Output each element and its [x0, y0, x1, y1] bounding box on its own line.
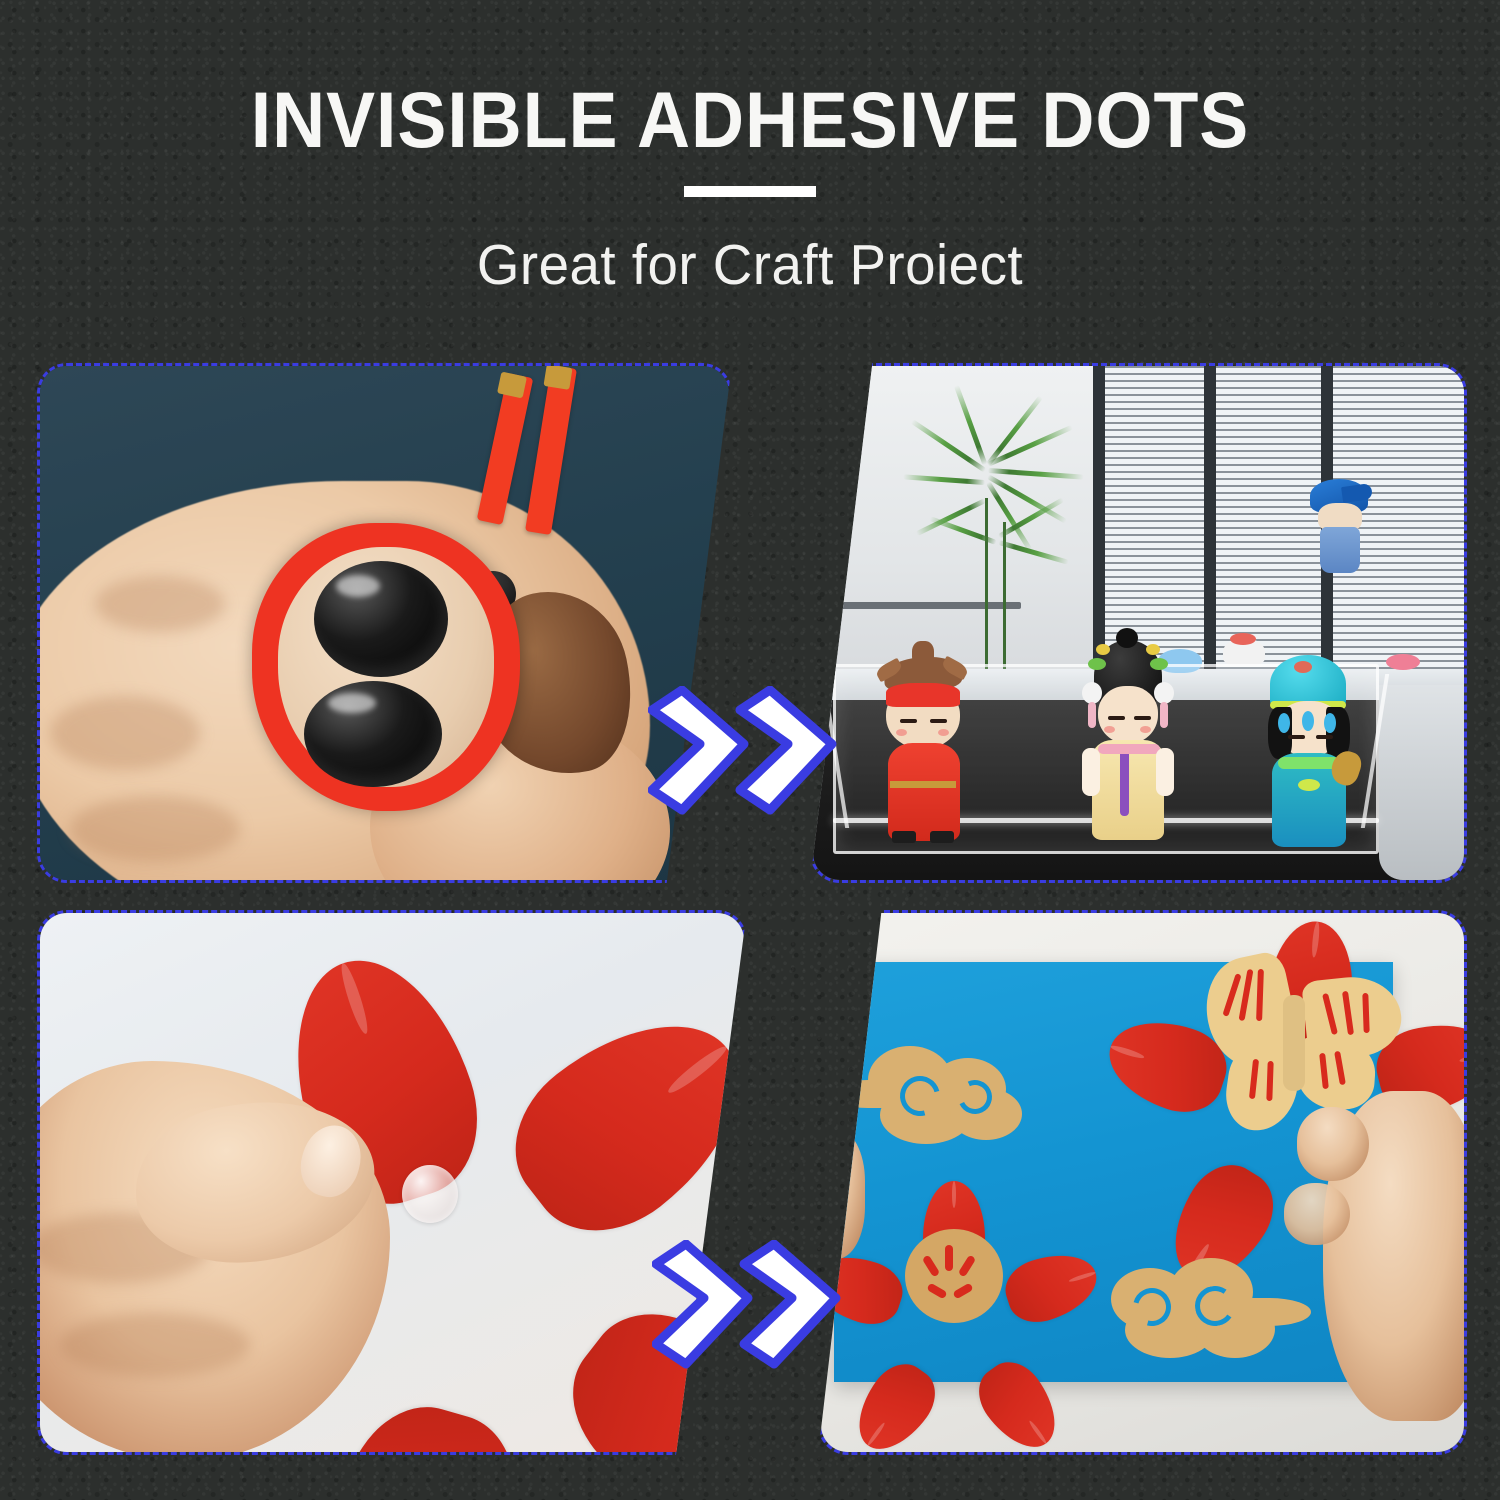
figurine-eye: [1316, 735, 1333, 739]
figurine-eye: [1288, 735, 1305, 739]
palm-frond: [998, 540, 1069, 565]
gold-cloud-bottom-right: [1091, 1258, 1311, 1368]
page-title: INVISIBLE ADHESIVE DOTS: [53, 74, 1448, 166]
knuckle-crease: [70, 796, 240, 862]
window-mullion: [1204, 366, 1216, 685]
figurine-base-red-rim: [252, 523, 520, 811]
knuckle-crease: [95, 576, 225, 632]
center-cutout: [945, 1245, 953, 1271]
double-chevron-right-bottom: [652, 1240, 842, 1380]
figurine-shoe: [930, 831, 954, 843]
cloud-tail: [1227, 1298, 1311, 1326]
desk-side-panel: [1379, 685, 1464, 880]
flower-gold-center: [905, 1229, 1003, 1323]
gold-tassel-tip: [543, 366, 572, 390]
face-jewel: [1302, 711, 1314, 731]
dot-highlight: [336, 575, 380, 597]
figurine-sleeve: [1156, 748, 1174, 796]
hair-tassel: [1160, 702, 1168, 728]
panel-figurine-base-with-adhesive-dots: [37, 363, 732, 883]
pink-prop: [1386, 654, 1420, 670]
hair-tassel: [1088, 702, 1096, 728]
figurine-headband: [886, 683, 960, 707]
figurine-eye: [1108, 716, 1125, 720]
adhesive-dot-lower: [304, 681, 442, 787]
red-flower-gold-center: [853, 1183, 1063, 1383]
clear-adhesive-dot: [402, 1165, 458, 1223]
panel-figurines-on-acrylic-shelf: [810, 363, 1467, 883]
palm-frond: [916, 498, 987, 536]
panel-felt-flower-with-clear-dot: [37, 910, 747, 1455]
cap-brim: [1341, 483, 1373, 503]
butterfly-body: [1283, 995, 1305, 1091]
palm-frond: [988, 468, 1084, 480]
figurine-collar: [1098, 744, 1160, 754]
knuckle-crease: [60, 1313, 250, 1377]
panel-finished-blue-craft-card: [818, 910, 1467, 1455]
figurine-blue-cap-top: [1308, 479, 1372, 575]
figurine-eye: [930, 719, 947, 723]
adhesive-dot-upper: [314, 561, 448, 677]
figurine-eye: [900, 719, 917, 723]
figurine-sash: [1120, 744, 1129, 816]
flower-petal: [484, 982, 744, 1263]
palm-frond: [903, 475, 985, 486]
chevron-right-icon: [652, 1240, 842, 1375]
figurine-robe: [888, 743, 960, 841]
figurine-head: [1098, 686, 1158, 744]
page-subtitle: Great for Craft Proiect: [30, 232, 1470, 298]
figurine-knot: [1298, 779, 1320, 791]
dot-highlight: [328, 693, 376, 713]
figurine-belt: [890, 781, 956, 788]
face-jewel: [1324, 713, 1336, 733]
helmet-crest: [1294, 661, 1312, 673]
double-chevron-right-top: [648, 686, 838, 826]
header: INVISIBLE ADHESIVE DOTS Great for Craft …: [0, 0, 1500, 330]
hair-tassel-bead: [1154, 682, 1174, 704]
figurine-red-robe: [878, 685, 968, 845]
figurine-sleeve: [1082, 748, 1100, 796]
figurine-jeans: [1320, 527, 1360, 573]
palm-frond: [987, 396, 1044, 467]
figurine-shoe: [892, 831, 916, 843]
figurine-eye: [1134, 716, 1151, 720]
chevron-right-icon: [648, 686, 838, 821]
window-mullion: [1093, 366, 1105, 685]
figurine-yellow-robe: [1080, 674, 1176, 844]
figurine-cheek: [938, 729, 949, 736]
finger-index: [1297, 1107, 1369, 1181]
gold-cloud-top-left: [834, 1042, 1044, 1152]
flower-petal: [304, 1390, 536, 1452]
title-divider-bar: [684, 186, 816, 197]
figurine-teal-robe: [1262, 685, 1356, 847]
face-jewel: [1278, 713, 1290, 733]
finger-middle: [1284, 1183, 1350, 1245]
knuckle-crease: [50, 696, 200, 770]
window-blinds: [1093, 366, 1464, 685]
figurine-hat-crown: [912, 641, 934, 667]
figurine-cheek: [896, 729, 907, 736]
